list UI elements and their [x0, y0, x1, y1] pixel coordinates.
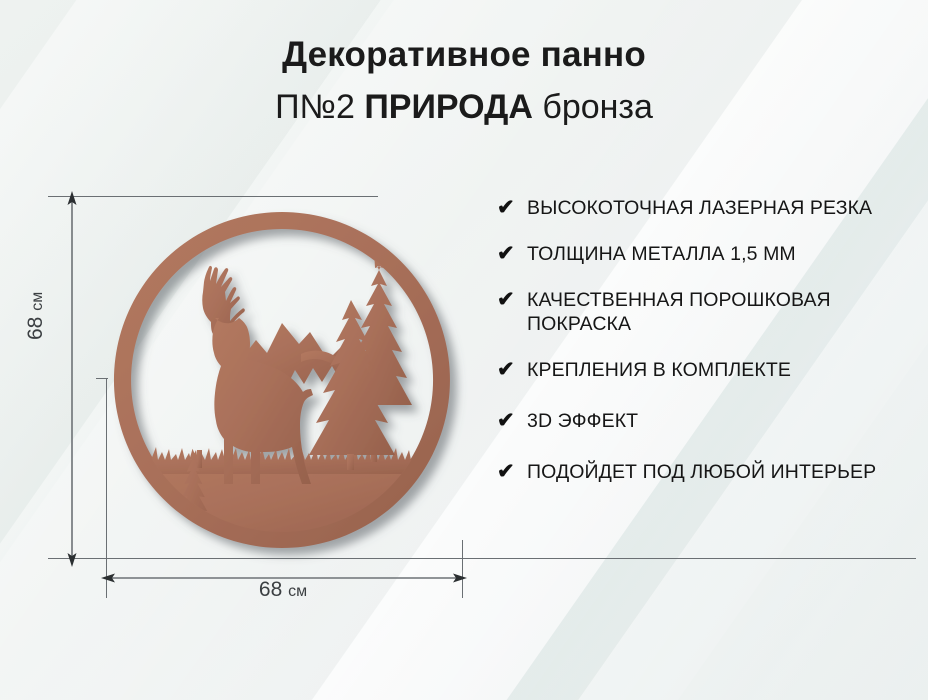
feature-item: ✔ ВЫСОКОТОЧНАЯ ЛАЗЕРНАЯ РЕЗКА [497, 196, 901, 220]
product-subtitle: П№2 ПРИРОДА бронза [0, 89, 928, 126]
width-dimension-label: 68 см [203, 578, 363, 602]
check-icon: ✔ [497, 288, 527, 311]
check-icon: ✔ [497, 196, 527, 219]
panel-metal-group [114, 212, 476, 552]
check-icon: ✔ [497, 409, 527, 432]
subtitle-prefix: П№2 [275, 88, 364, 126]
feature-text: КАЧЕСТВЕННАЯ ПОРОШКОВАЯ ПОКРАСКА [527, 288, 901, 336]
feature-item: ✔ КРЕПЛЕНИЯ В КОМПЛЕКТЕ [497, 358, 901, 382]
feature-text: КРЕПЛЕНИЯ В КОМПЛЕКТЕ [527, 358, 791, 382]
feature-item: ✔ ПОДОЙДЕТ ПОД ЛЮБОЙ ИНТЕРЬЕР [497, 460, 901, 484]
check-icon: ✔ [497, 358, 527, 381]
feature-text: ПОДОЙДЕТ ПОД ЛЮБОЙ ИНТЕРЬЕР [527, 460, 876, 484]
width-value: 68 [259, 578, 282, 601]
feature-item: ✔ КАЧЕСТВЕННАЯ ПОРОШКОВАЯ ПОКРАСКА [497, 288, 901, 336]
width-unit: см [288, 583, 307, 600]
product-image [96, 192, 476, 572]
extension-line-top [48, 196, 378, 197]
check-icon: ✔ [497, 242, 527, 265]
subtitle-finish: бронза [533, 88, 653, 126]
feature-text: ТОЛЩИНА МЕТАЛЛА 1,5 ММ [527, 242, 796, 266]
feature-text: 3D ЭФФЕКТ [527, 409, 638, 433]
height-dimension-label: 68 см [24, 292, 48, 340]
dimension-arrow-vertical [60, 190, 84, 570]
extension-line-bottom [48, 558, 916, 559]
extension-line-left [106, 378, 107, 598]
subtitle-model: ПРИРОДА [364, 88, 533, 126]
height-value: 68 [24, 317, 47, 340]
feature-text: ВЫСОКОТОЧНАЯ ЛАЗЕРНАЯ РЕЗКА [527, 196, 872, 220]
decorative-panel-artwork [96, 192, 476, 572]
feature-item: ✔ ТОЛЩИНА МЕТАЛЛА 1,5 ММ [497, 242, 901, 266]
title-block: Декоративное панно П№2 ПРИРОДА бронза [0, 36, 928, 126]
height-unit: см [29, 292, 46, 311]
check-icon: ✔ [497, 460, 527, 483]
page-title: Декоративное панно [0, 36, 928, 75]
feature-item: ✔ 3D ЭФФЕКТ [497, 409, 901, 433]
feature-list: ✔ ВЫСОКОТОЧНАЯ ЛАЗЕРНАЯ РЕЗКА ✔ ТОЛЩИНА … [497, 196, 901, 503]
infographic-canvas: Декоративное панно П№2 ПРИРОДА бронза [0, 0, 928, 700]
